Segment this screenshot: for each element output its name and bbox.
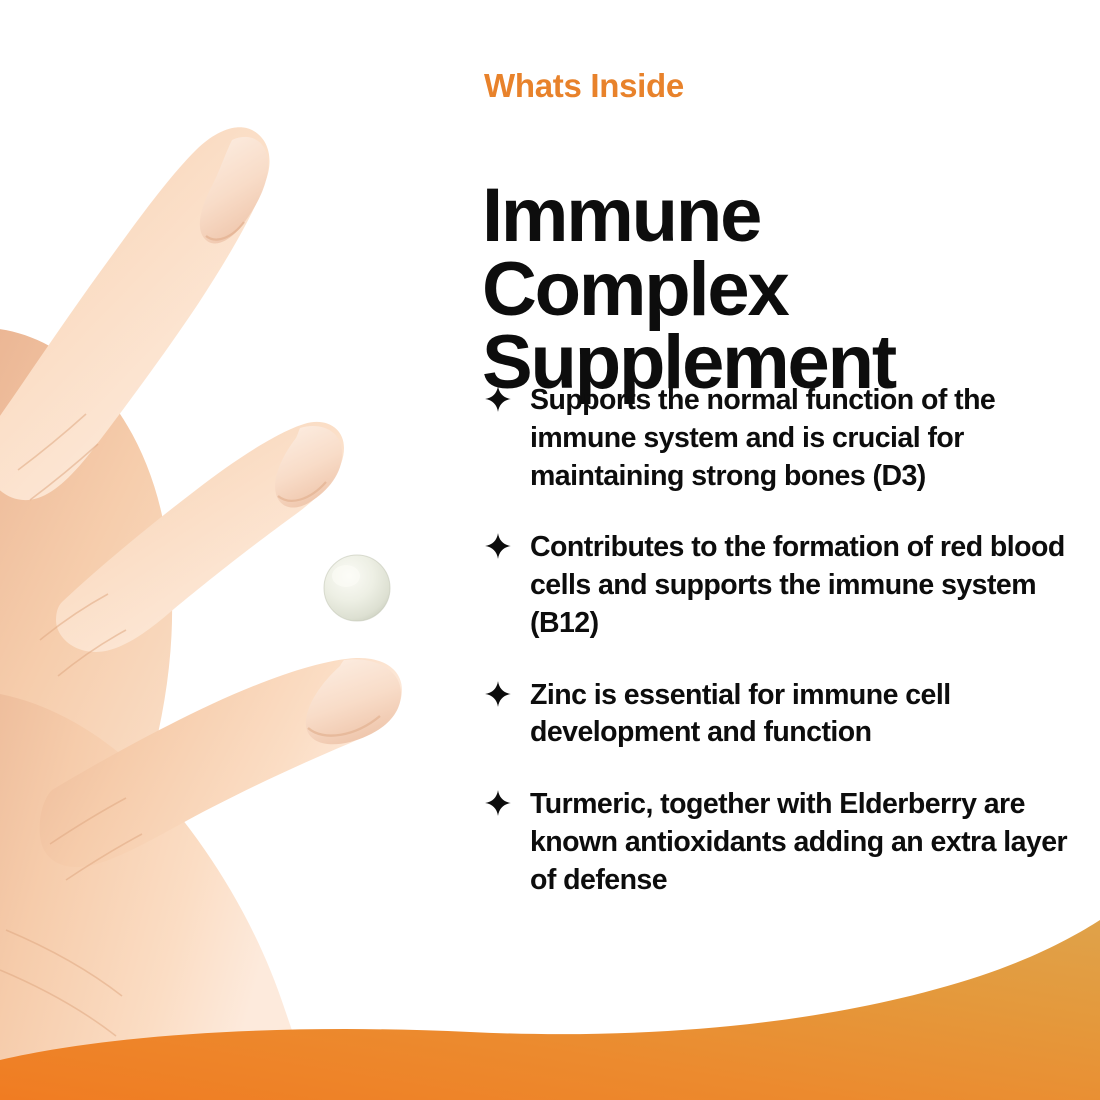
sparkle-star-icon — [484, 680, 512, 708]
sparkle-star-icon — [484, 789, 512, 817]
list-item-label: Zinc is essential for immune cell develo… — [530, 677, 1084, 753]
page-title-line-1: Immune — [482, 179, 1082, 253]
list-item: Supports the normal function of the immu… — [484, 382, 1084, 495]
list-item: Zinc is essential for immune cell develo… — [484, 677, 1084, 753]
list-item-label: Contributes to the formation of red bloo… — [530, 529, 1084, 642]
list-item-label: Supports the normal function of the immu… — [530, 382, 1084, 495]
hand-holding-pill-photo — [0, 0, 470, 1100]
list-item: Turmeric, together with Elderberry are k… — [484, 786, 1084, 899]
page-title-line-2: Complex — [482, 253, 1082, 327]
content-column: Whats Inside Immune Complex Supplement S… — [484, 0, 1084, 1100]
sparkle-star-icon — [484, 385, 512, 413]
list-item-label: Turmeric, together with Elderberry are k… — [530, 786, 1084, 899]
eyebrow-label: Whats Inside — [484, 68, 684, 104]
product-benefits-poster: Whats Inside Immune Complex Supplement S… — [0, 0, 1100, 1100]
list-item: Contributes to the formation of red bloo… — [484, 529, 1084, 642]
sparkle-star-icon — [484, 532, 512, 560]
page-title: Immune Complex Supplement — [482, 179, 1082, 400]
benefits-list: Supports the normal function of the immu… — [484, 382, 1084, 899]
